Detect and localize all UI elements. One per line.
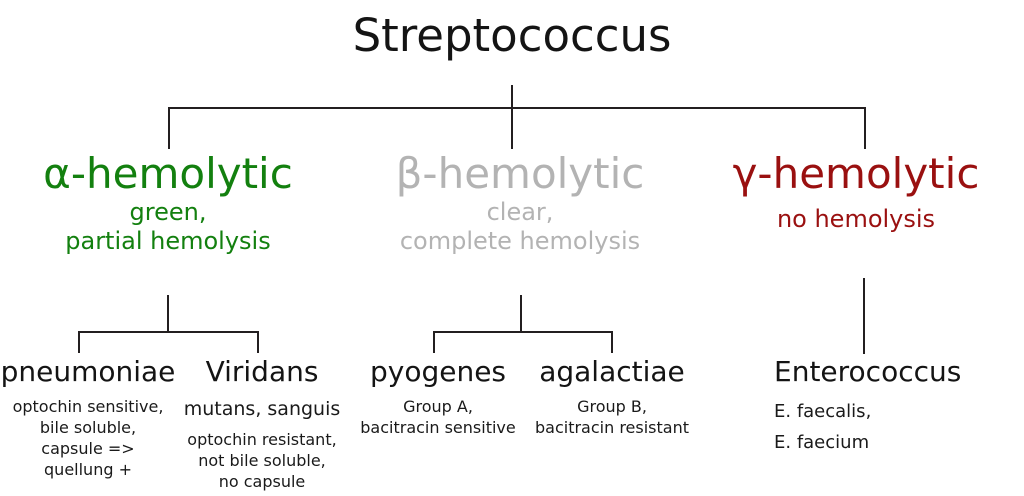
branch-alpha-title: α-hemolytic <box>8 150 328 198</box>
leaf-viridans-detail-line-2: not bile soluble, <box>178 450 346 471</box>
leaf-node-agalactiae: agalactiae Group B, bacitracin resistant <box>528 355 696 438</box>
leaf-pneumoniae-title: pneumoniae <box>0 355 176 389</box>
branch-beta-subtitle-line-1: clear, <box>350 198 690 227</box>
branch-gamma-hemolytic: γ-hemolytic no hemolysis <box>696 150 1016 234</box>
leaf-viridans-detail-line-3: no capsule <box>178 471 346 492</box>
streptococcus-classification-diagram: Streptococcus α-hemolytic green, partial… <box>0 0 1024 496</box>
leaf-pyogenes-title: pyogenes <box>358 355 518 389</box>
leaf-viridans-detail-line-1: optochin resistant, <box>178 429 346 450</box>
root-branch-leg-beta <box>511 107 513 149</box>
branch-alpha-subtitle-line-1: green, <box>8 198 328 227</box>
branch-beta-subtitle-line-2: complete hemolysis <box>350 227 690 256</box>
root-horizontal-connector <box>168 107 866 109</box>
branch-alpha-subtitle-line-2: partial hemolysis <box>8 227 328 256</box>
leaf-pyogenes-detail-line-2: bacitracin sensitive <box>358 417 518 438</box>
leaf-pneumoniae-detail-line-1: optochin sensitive, <box>0 396 176 417</box>
leaf-node-pyogenes: pyogenes Group A, bacitracin sensitive <box>358 355 518 438</box>
leaf-viridans-title: Viridans <box>178 355 346 389</box>
root-stem-connector <box>511 85 513 109</box>
beta-leg-pyogenes <box>433 331 435 353</box>
leaf-agalactiae-detail-line-2: bacitracin resistant <box>528 417 696 438</box>
beta-leg-agalactiae <box>611 331 613 353</box>
root-branch-leg-gamma <box>864 107 866 149</box>
branch-beta-hemolytic: β-hemolytic clear, complete hemolysis <box>350 150 690 256</box>
branch-alpha-hemolytic: α-hemolytic green, partial hemolysis <box>8 150 328 256</box>
branch-gamma-title: γ-hemolytic <box>696 150 1016 198</box>
alpha-horizontal-connector <box>78 331 259 333</box>
leaf-pneumoniae-detail-line-3: capsule => <box>0 438 176 459</box>
branch-gamma-subtitle-line-1: no hemolysis <box>696 205 1016 234</box>
leaf-node-pneumoniae: pneumoniae optochin sensitive, bile solu… <box>0 355 176 480</box>
leaf-agalactiae-detail-line-1: Group B, <box>528 396 696 417</box>
gamma-leg-enterococcus <box>863 278 865 354</box>
leaf-enterococcus-title: Enterococcus <box>774 355 1024 389</box>
root-branch-leg-alpha <box>168 107 170 149</box>
leaf-agalactiae-title: agalactiae <box>528 355 696 389</box>
leaf-viridans-species: mutans, sanguis <box>178 396 346 422</box>
alpha-stem-connector <box>167 295 169 333</box>
leaf-pneumoniae-detail-line-2: bile soluble, <box>0 417 176 438</box>
beta-horizontal-connector <box>433 331 613 333</box>
root-node-streptococcus: Streptococcus <box>0 8 1024 64</box>
branch-beta-title: β-hemolytic <box>350 150 690 198</box>
alpha-leg-pneumoniae <box>78 331 80 353</box>
leaf-node-viridans: Viridans mutans, sanguis optochin resist… <box>178 355 346 492</box>
alpha-leg-viridans <box>257 331 259 353</box>
beta-stem-connector <box>520 295 522 333</box>
leaf-enterococcus-detail-line-2: E. faecium <box>774 427 1024 458</box>
leaf-pyogenes-detail-line-1: Group A, <box>358 396 518 417</box>
leaf-pneumoniae-detail-line-4: quellung + <box>0 459 176 480</box>
leaf-enterococcus-detail-line-1: E. faecalis, <box>774 396 1024 427</box>
leaf-node-enterococcus: Enterococcus E. faecalis, E. faecium <box>774 355 1024 458</box>
